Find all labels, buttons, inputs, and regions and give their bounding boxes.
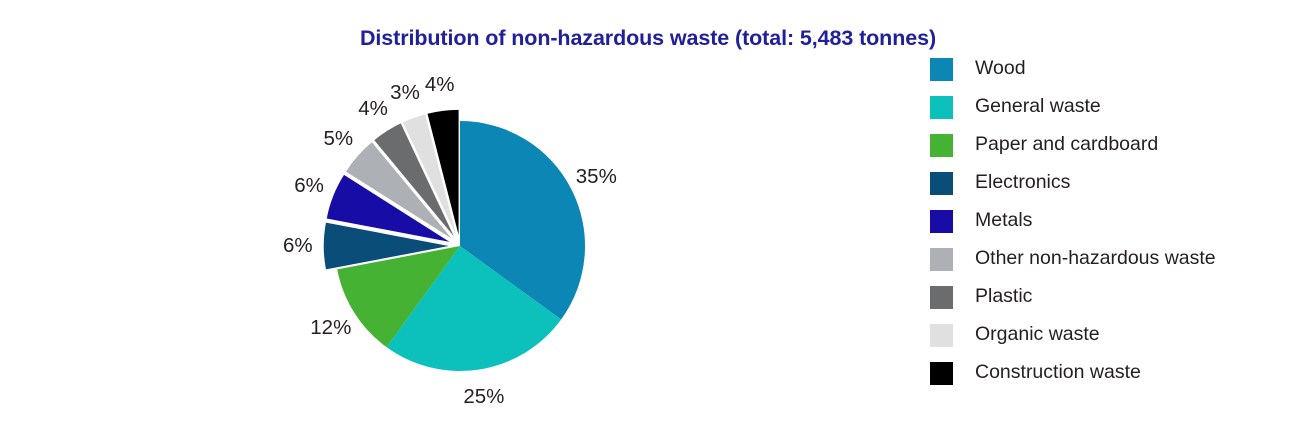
legend-item[interactable]: Wood (930, 50, 1300, 88)
legend-color-swatch (930, 248, 953, 271)
legend-item[interactable]: Organic waste (930, 316, 1300, 354)
legend-item-label: Organic waste (975, 325, 1100, 345)
legend-item[interactable]: Plastic (930, 278, 1300, 316)
pie-slice-percent-label: 4% (425, 73, 455, 97)
legend-item[interactable]: Electronics (930, 164, 1300, 202)
pie-slice-percent-label: 5% (323, 127, 353, 151)
pie-slice-percent-label: 6% (294, 174, 324, 198)
legend-item-label: Construction waste (975, 363, 1141, 383)
pie-slice-percent-label: 4% (358, 97, 388, 121)
legend-color-swatch (930, 324, 953, 347)
pie-slice-percent-label: 25% (463, 385, 504, 409)
legend-color-swatch (930, 96, 953, 119)
pie-slice-percent-label: 35% (576, 165, 617, 189)
legend-item-label: General waste (975, 97, 1101, 117)
pie-slice-percent-label: 3% (390, 81, 420, 105)
legend-item[interactable]: Paper and cardboard (930, 126, 1300, 164)
legend-item[interactable]: Other non-hazardous waste (930, 240, 1300, 278)
legend-item-label: Paper and cardboard (975, 135, 1158, 155)
legend-color-swatch (930, 172, 953, 195)
legend-color-swatch (930, 210, 953, 233)
chart-legend: WoodGeneral wastePaper and cardboardElec… (930, 50, 1300, 392)
legend-item-label: Other non-hazardous waste (975, 249, 1216, 269)
legend-item[interactable]: Metals (930, 202, 1300, 240)
legend-color-swatch (930, 362, 953, 385)
legend-item[interactable]: Construction waste (930, 354, 1300, 392)
pie-chart-figure: Distribution of non-hazardous waste (tot… (0, 0, 1300, 430)
pie-svg (0, 0, 920, 430)
legend-color-swatch (930, 286, 953, 309)
legend-item-label: Metals (975, 211, 1032, 231)
legend-item-label: Wood (975, 59, 1026, 79)
legend-item[interactable]: General waste (930, 88, 1300, 126)
legend-color-swatch (930, 58, 953, 81)
legend-item-label: Electronics (975, 173, 1070, 193)
pie-slices-group (324, 110, 585, 371)
legend-color-swatch (930, 134, 953, 157)
pie-slice-percent-label: 6% (283, 234, 313, 258)
pie-plot-area: 35%25%12%6%6%5%4%3%4% (0, 0, 920, 430)
pie-slice-percent-label: 12% (310, 316, 351, 340)
legend-item-label: Plastic (975, 287, 1032, 307)
